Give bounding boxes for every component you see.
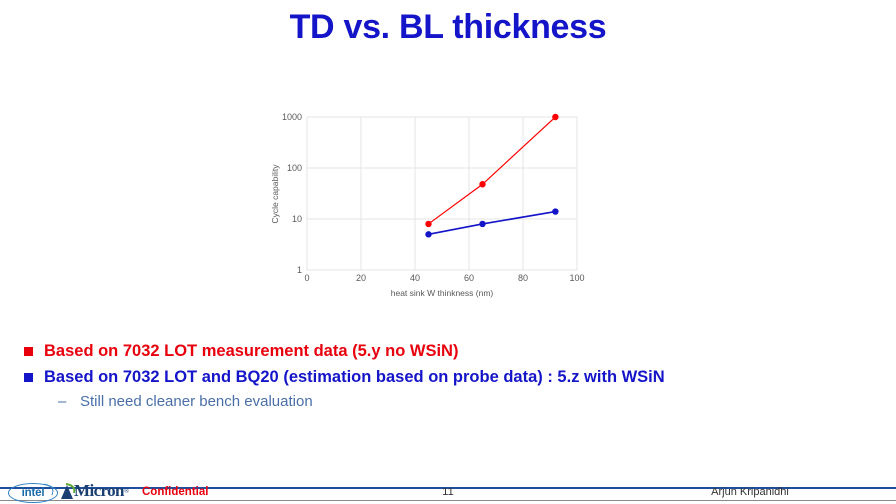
x-tick-label: 100 (569, 273, 584, 283)
x-tick-label: 20 (356, 273, 366, 283)
bullet-marker-red (24, 347, 33, 356)
x-axis-label: heat sink W thinkness (nm) (391, 288, 494, 298)
y-tick-label: 1 (297, 265, 302, 275)
sub-bullet-text: Still need cleaner bench evaluation (80, 392, 313, 412)
bullet-text: Based on 7032 LOT and BQ20 (estimation b… (44, 366, 665, 388)
author-name: Arjun Kripanidhi (604, 486, 896, 498)
y-axis-tick-labels: 1101001000 (282, 112, 302, 275)
y-tick-label: 10 (292, 214, 302, 224)
line-chart: 020406080100 1101001000 heat sink W thin… (266, 104, 586, 300)
intel-logo-text: intel (22, 487, 45, 499)
list-item: Based on 7032 LOT and BQ20 (estimation b… (24, 366, 864, 388)
data-point (425, 231, 431, 237)
micron-logo-icon: Micron ® (60, 481, 129, 501)
bullet-marker-blue (24, 373, 33, 382)
page-number: 11 (292, 486, 604, 498)
data-point (479, 221, 485, 227)
x-tick-label: 80 (518, 273, 528, 283)
y-axis-label: Cycle capability (270, 164, 280, 224)
data-point (552, 114, 558, 120)
plot-area-background (307, 117, 577, 270)
bullet-list: Based on 7032 LOT measurement data (5.y … (24, 340, 864, 412)
intel-logo-icon: intel (8, 483, 58, 503)
footer-rule-right (604, 500, 896, 501)
bullet-text: Based on 7032 LOT measurement data (5.y … (44, 340, 458, 362)
micron-mark-icon (60, 484, 73, 499)
micron-logo-text: Micron (74, 481, 124, 501)
page-title: TD vs. BL thickness (0, 8, 896, 47)
x-axis-tick-labels: 020406080100 (304, 273, 584, 283)
list-item: Based on 7032 LOT measurement data (5.y … (24, 340, 864, 362)
footer-rule-center (292, 500, 604, 501)
x-tick-label: 40 (410, 273, 420, 283)
dash-marker: – (58, 392, 70, 412)
micron-trademark: ® (124, 487, 129, 495)
y-tick-label: 100 (287, 163, 302, 173)
x-tick-label: 0 (304, 273, 309, 283)
x-tick-label: 60 (464, 273, 474, 283)
confidential-label: Confidential (142, 486, 208, 498)
chart-container: 020406080100 1101001000 heat sink W thin… (266, 104, 586, 300)
y-tick-label: 1000 (282, 112, 302, 122)
sub-list-item: – Still need cleaner bench evaluation (58, 392, 864, 412)
slide-canvas: TD vs. BL thickness 020406080100 1101001… (0, 0, 896, 504)
data-point (425, 221, 431, 227)
data-point (552, 208, 558, 214)
data-point (479, 181, 485, 187)
